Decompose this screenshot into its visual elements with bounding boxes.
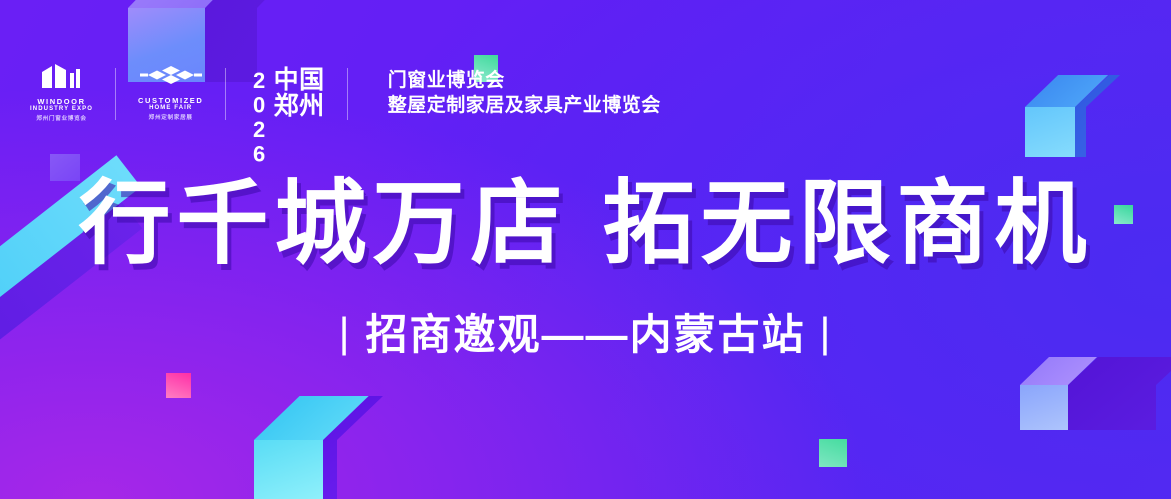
subtitle-bracket-right: | [806,310,847,356]
decorative-square-green-bottom [819,439,847,467]
decorative-3d-box-bottom-right-side [1068,357,1171,430]
logo-chf-en-line1: CUSTOMIZED [138,96,203,105]
decorative-3d-box-top-left-top [128,0,273,8]
decorative-square-dim-left [50,154,80,181]
decorative-3d-box-bottom-center-side [323,396,383,499]
logo-divider-3 [347,68,348,120]
logo-customized-home-fair: CUSTOMIZED HOME FAIR 郑州定制家居展 [138,65,203,122]
decorative-3d-box-right-front [1025,107,1075,157]
logo-divider-2 [225,68,226,120]
subtitle-text: 招商邀观——内蒙古站 [365,311,805,358]
logo-chf-en-line2: HOME FAIR [149,105,192,113]
header-branding-row: WINDOOR INDUSTRY EXPO 郑州门窗业博览会 [30,64,661,123]
decorative-3d-box-bottom-right-top [1020,357,1097,385]
windoor-building-icon [40,64,82,93]
logo-divider-1 [115,68,116,120]
page-subtitle: |招商邀观——内蒙古站| [0,312,1171,358]
event-city: 中国 郑州 [274,68,325,119]
expo-name-line2: 整屋定制家居及家具产业博览会 [388,94,661,118]
page-title: 行千城万店拓无限商机 [0,178,1171,270]
customized-home-diamond-icon [140,65,202,92]
event-promo-banner: WINDOOR INDUSTRY EXPO 郑州门窗业博览会 [0,0,1171,499]
expo-name-block: 门窗业博览会 整屋定制家居及家具产业博览会 [388,69,661,118]
expo-name-line1: 门窗业博览会 [388,69,661,93]
headline-part-1: 行千城万店 [78,173,568,275]
decorative-3d-box-bottom-center-front [254,440,323,499]
logo-windoor-en-line2: INDUSTRY EXPO [30,106,93,114]
logo-windoor-cn: 郑州门窗业博览会 [36,116,86,123]
event-city-label: 郑州 [274,94,325,120]
event-year-city: 2026 中国 郑州 [248,68,324,120]
decorative-square-pink [166,373,191,398]
subtitle-bracket-left: | [325,310,366,356]
decorative-3d-box-right-top [1025,75,1108,107]
decorative-3d-box-right-side [1075,75,1120,157]
decorative-3d-box-bottom-center-top [254,396,369,440]
event-country-label: 中国 [274,68,325,94]
logo-windoor-en-line1: WINDOOR [37,97,85,106]
headline-part-2: 拓无限商机 [603,173,1093,275]
event-year: 2026 [248,68,268,120]
logo-chf-cn: 郑州定制家居展 [149,115,193,122]
logo-windoor-industry-expo: WINDOOR INDUSTRY EXPO 郑州门窗业博览会 [30,64,93,123]
decorative-3d-box-bottom-right-front [1020,385,1068,430]
